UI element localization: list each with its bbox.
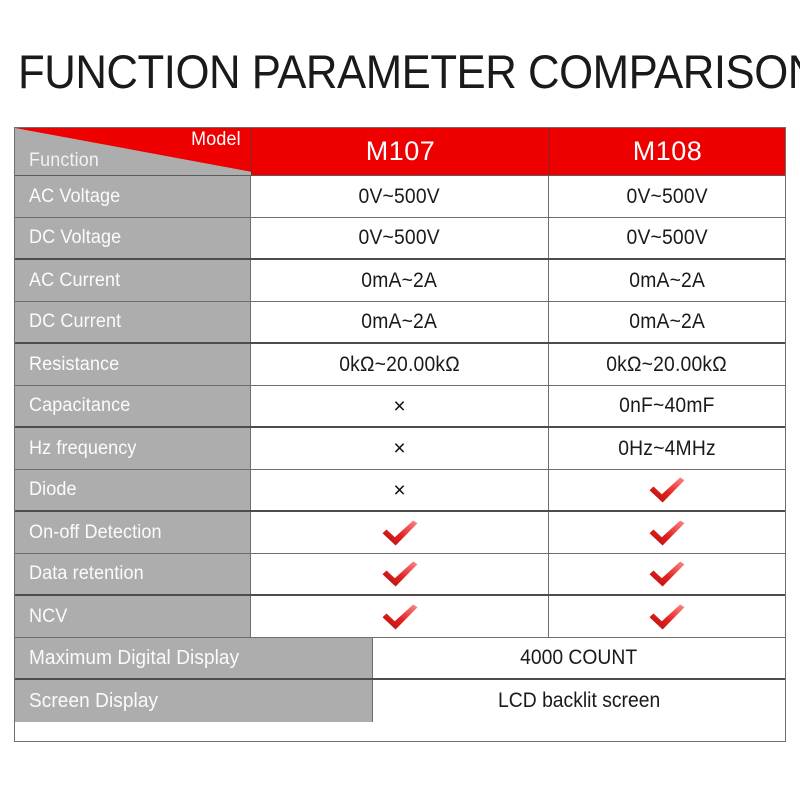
cell-m108: 0V~500V [549, 176, 785, 217]
header-axis-label-function: Function [29, 150, 99, 172]
row-label-text: Hz frequency [29, 438, 136, 460]
table-row: NCV [15, 596, 785, 638]
row-label: DC Current [15, 302, 251, 342]
cell-value-text: 0mA~2A [362, 269, 438, 293]
cell-merged-value: LCD backlit screen [373, 680, 785, 722]
row-label-text: Capacitance [29, 395, 130, 417]
cell-m107 [251, 596, 549, 637]
cell-value-text: 0Hz~4MHz [618, 437, 716, 461]
cell-m108: 0nF~40mF [549, 386, 785, 426]
table-header-row: Model Function M107 M108 [15, 128, 785, 176]
table-row: Capacitance×0nF~40mF [15, 386, 785, 428]
check-icon [647, 603, 687, 631]
row-label: Screen Display [15, 680, 373, 722]
row-label: Hz frequency [15, 428, 251, 469]
cell-m108: 0V~500V [549, 218, 785, 258]
row-label-text: Maximum Digital Display [29, 647, 239, 670]
check-icon [647, 519, 687, 547]
check-icon [380, 560, 420, 588]
check-icon [380, 603, 420, 631]
row-label: AC Voltage [15, 176, 251, 217]
cell-value-text: 0kΩ~20.00kΩ [339, 353, 460, 377]
table-row-wide: Maximum Digital Display4000 COUNT [15, 638, 785, 680]
table-row: AC Current0mA~2A0mA~2A [15, 260, 785, 302]
cell-value-text: 4000 COUNT [520, 646, 637, 670]
comparison-table: Model Function M107 M108 AC Voltage0V~50… [14, 127, 786, 742]
cell-value-text: 0V~500V [626, 185, 707, 209]
cell-m107: 0mA~2A [251, 260, 549, 301]
cell-m108: 0kΩ~20.00kΩ [549, 344, 785, 385]
header-corner-split-cell: Model Function [15, 128, 251, 175]
row-label-text: AC Voltage [29, 186, 120, 208]
table-row: Diode× [15, 470, 785, 512]
table-row: AC Voltage0V~500V0V~500V [15, 176, 785, 218]
table-row: Resistance0kΩ~20.00kΩ0kΩ~20.00kΩ [15, 344, 785, 386]
cell-m107 [251, 554, 549, 594]
cell-m107: 0kΩ~20.00kΩ [251, 344, 549, 385]
row-label: DC Voltage [15, 218, 251, 258]
header-axis-label-model: Model [191, 129, 241, 151]
cross-icon: × [393, 480, 405, 501]
cell-m108 [549, 470, 785, 510]
row-label: AC Current [15, 260, 251, 301]
row-label-text: Screen Display [29, 690, 158, 713]
cell-m108 [549, 596, 785, 637]
table-row-wide: Screen DisplayLCD backlit screen [15, 680, 785, 722]
cell-m107: × [251, 386, 549, 426]
cell-value-text: LCD backlit screen [498, 689, 660, 713]
row-label-text: DC Current [29, 311, 121, 333]
column-header-m107: M107 [251, 128, 549, 175]
row-label-text: AC Current [29, 270, 120, 292]
row-label: On-off Detection [15, 512, 251, 553]
check-icon [647, 476, 687, 504]
row-label: Diode [15, 470, 251, 510]
cell-m108: 0Hz~4MHz [549, 428, 785, 469]
check-icon [380, 519, 420, 547]
table-row: On-off Detection [15, 512, 785, 554]
cell-m108 [549, 554, 785, 594]
row-label: Resistance [15, 344, 251, 385]
cross-icon: × [393, 396, 405, 417]
cell-m107: 0V~500V [251, 218, 549, 258]
cross-icon: × [393, 438, 405, 459]
table-body: AC Voltage0V~500V0V~500VDC Voltage0V~500… [15, 176, 785, 722]
cell-m107: 0mA~2A [251, 302, 549, 342]
check-icon [647, 560, 687, 588]
cell-value-text: 0mA~2A [362, 310, 438, 334]
cell-m108: 0mA~2A [549, 260, 785, 301]
cell-value-text: 0V~500V [359, 226, 440, 250]
row-label-text: Resistance [29, 354, 119, 376]
cell-value-text: 0V~500V [359, 185, 440, 209]
cell-value-text: 0nF~40mF [619, 394, 714, 418]
row-label-text: NCV [29, 606, 67, 628]
cell-value-text: 0mA~2A [629, 310, 705, 334]
table-row: Hz frequency×0Hz~4MHz [15, 428, 785, 470]
row-label-text: On-off Detection [29, 522, 162, 544]
row-label-text: Diode [29, 479, 77, 501]
row-label-text: DC Voltage [29, 227, 121, 249]
table-row: Data retention [15, 554, 785, 596]
row-label: NCV [15, 596, 251, 637]
cell-m107: 0V~500V [251, 176, 549, 217]
cell-merged-value: 4000 COUNT [373, 638, 785, 678]
cell-m108 [549, 512, 785, 553]
row-label-text: Data retention [29, 563, 144, 585]
cell-m108: 0mA~2A [549, 302, 785, 342]
cell-value-text: 0kΩ~20.00kΩ [607, 353, 728, 377]
table-row: DC Current0mA~2A0mA~2A [15, 302, 785, 344]
row-label: Maximum Digital Display [15, 638, 373, 678]
cell-m107: × [251, 428, 549, 469]
row-label: Data retention [15, 554, 251, 594]
cell-value-text: 0V~500V [626, 226, 707, 250]
row-label: Capacitance [15, 386, 251, 426]
table-row: DC Voltage0V~500V0V~500V [15, 218, 785, 260]
column-header-m108: M108 [549, 128, 785, 175]
cell-m107: × [251, 470, 549, 510]
cell-m107 [251, 512, 549, 553]
cell-value-text: 0mA~2A [629, 269, 705, 293]
page-title: FUNCTION PARAMETER COMPARISON [18, 44, 734, 100]
